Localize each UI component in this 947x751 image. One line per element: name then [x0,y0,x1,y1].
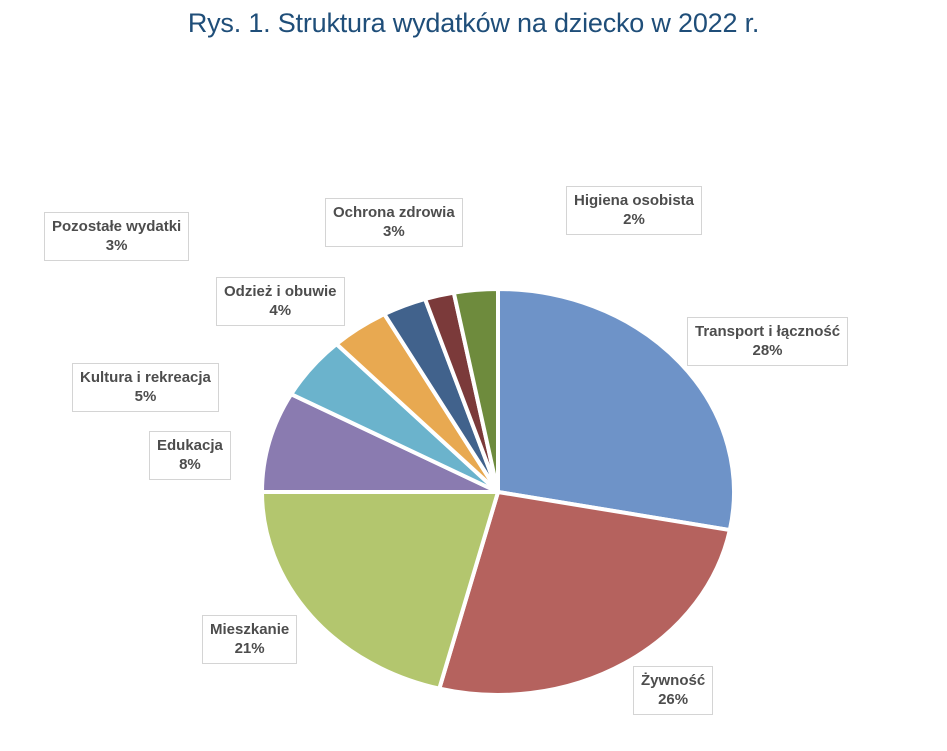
data-label-value: 28% [695,341,840,360]
data-label-pozostale-wydatki: Pozostałe wydatki 3% [44,212,189,261]
data-label-name: Żywność [641,671,705,690]
data-label-name: Edukacja [157,436,223,455]
data-label-edukacja: Edukacja 8% [149,431,231,480]
data-label-value: 26% [641,690,705,709]
data-label-transport-i-lacznosc: Transport i łączność 28% [687,317,848,366]
data-label-name: Transport i łączność [695,322,840,341]
data-label-name: Ochrona zdrowia [333,203,455,222]
pie-chart-figure: Rys. 1. Struktura wydatków na dziecko w … [0,0,947,751]
data-label-mieszkanie: Mieszkanie 21% [202,615,297,664]
data-label-value: 3% [333,222,455,241]
data-label-zywnosc: Żywność 26% [633,666,713,715]
data-label-value: 4% [224,301,337,320]
data-label-higiena-osobista: Higiena osobista 2% [566,186,702,235]
data-label-value: 21% [210,639,289,658]
data-label-name: Kultura i rekreacja [80,368,211,387]
data-label-value: 8% [157,455,223,474]
data-label-name: Mieszkanie [210,620,289,639]
data-label-value: 2% [574,210,694,229]
data-label-name: Odzież i obuwie [224,282,337,301]
data-label-kultura-i-rekreacja: Kultura i rekreacja 5% [72,363,219,412]
data-label-name: Pozostałe wydatki [52,217,181,236]
data-label-value: 5% [80,387,211,406]
data-label-odziez-i-obuwie: Odzież i obuwie 4% [216,277,345,326]
pie-slice-group [262,289,734,695]
data-label-ochrona-zdrowia: Ochrona zdrowia 3% [325,198,463,247]
data-label-name: Higiena osobista [574,191,694,210]
data-label-value: 3% [52,236,181,255]
